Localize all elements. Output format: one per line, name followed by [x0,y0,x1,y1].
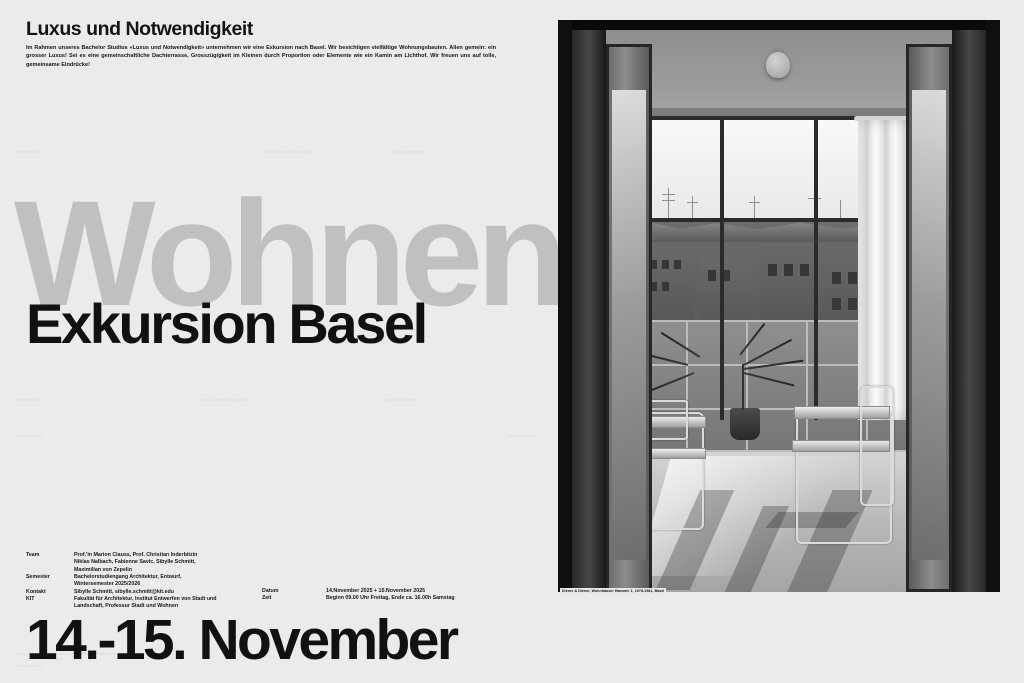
door-jamb-left [572,30,606,592]
watermark-left: Winter 2025/26 [16,434,41,439]
window-lite [662,282,669,291]
watermark-row-1: Winter 2025/26 Das Leichte und das Schwe… [0,150,552,160]
watermark-left: Winter 2025/26 [16,398,41,403]
watermark-right: Stadt und Wohnen [390,150,422,155]
credit-key: Semester [26,574,74,589]
contact-email[interactable]: Sibylle Schmitt, sibylle.schmitt@kit.edu [74,589,217,596]
watermark-right: Stadt und Wohnen [386,398,418,403]
window-lite [800,264,809,276]
credit-row-team: Team Prof.'in Marion Clauss, Prof. Chris… [26,552,217,574]
schedule-block: Datum 14.November 2025 + 15.November 202… [262,588,455,603]
credit-value: Prof.'in Marion Clauss, Prof. Christian … [74,552,217,574]
credit-line: Bachelorstudiengang Architektur, Entwurf… [74,574,217,581]
watermark-center: Das Leichte und das Schwere [262,150,313,155]
credit-line: Prof.'in Marion Clauss, Prof. Christian … [74,552,217,559]
credit-key: Kontakt [26,589,74,596]
antenna-bar [662,194,675,195]
schedule-value: 14.November 2025 + 15.November 2025 [326,588,455,595]
window-lite [674,260,681,269]
ceiling-lamp [766,52,790,78]
intro-paragraph: Im Rahmen unseres Bachelor Studios «Luxu… [26,44,496,69]
watermark-right: Stadt und Wohnen [506,434,538,439]
window-lite [662,260,669,269]
watermark-row-2: Winter 2025/26 Das Leichte und das Schwe… [0,398,552,408]
schedule-key: Datum [262,588,326,595]
credit-value: Sibylle Schmitt, sibylle.schmitt@kit.edu [74,589,217,596]
window-lite [848,298,857,310]
window-lite [784,264,793,276]
poster-photograph [558,20,1000,592]
page-title: Luxus und Notwendigkeit [26,18,253,41]
schedule-row-zeit: Zeit Beginn 09.00 Uhr Freitag, Ende ca. … [262,595,455,602]
credit-value: Bachelorstudiengang Architektur, Entwurf… [74,574,217,589]
watermark-row-3: Winter 2025/26 Stadt und Wohnen [0,434,552,444]
big-date: 14.-15. November [26,612,456,669]
credits-block: Team Prof.'in Marion Clauss, Prof. Chris… [26,552,217,611]
window-lite [832,272,841,284]
watermark-center: Das Leichte und das Schwere [200,398,251,403]
photo-frame-top [558,20,1000,30]
credit-line: Landschaft, Professur Stadt und Wohnen [74,603,217,610]
credit-line: Fakultät für Architektur, Institut Entwe… [74,596,217,603]
credit-line: Maximilian von Zepelin [74,567,217,574]
window-lite [848,272,857,284]
credit-key: Team [26,552,74,574]
plant-stem [742,364,744,410]
window-lite [768,264,777,276]
photo-caption: Diener & Diener, Wohnhäuser Hammer 1, 19… [560,588,666,594]
window-mullion [720,116,724,420]
photo-frame-left [558,20,572,592]
credit-row-kontakt: Kontakt Sibylle Schmitt, sibylle.schmitt… [26,589,217,596]
plant-pot [730,408,760,440]
glass-door-left-pane [612,90,646,560]
credit-key: KIT [26,596,74,611]
window-lite [832,298,841,310]
window-mullion [814,116,818,420]
credit-row-kit: KIT Fakultät für Architektur, Institut E… [26,596,217,611]
antenna-bar [662,200,675,201]
schedule-key: Zeit [262,595,326,602]
credit-value: Fakultät für Architektur, Institut Entwe… [74,596,217,611]
poster-canvas: Winter 2025/26 Das Leichte und das Schwe… [0,0,1024,683]
antenna-bar [687,202,698,203]
credit-row-semester: Semester Bachelorstudiengang Architektur… [26,574,217,589]
credit-line: Niklas Nalbach, Fabienne Savic, Sibylle … [74,559,217,566]
photo-frame-right [986,20,1000,592]
window-lite [708,270,716,281]
glass-door-right-pane [912,90,946,560]
antenna-bar [749,202,760,203]
watermark-left: Winter 2025/26 [16,150,41,155]
door-jamb-right [952,30,986,592]
credit-line: Wintersemester 2025/2026 [74,581,217,588]
schedule-row-datum: Datum 14.November 2025 + 15.November 202… [262,588,455,595]
schedule-value: Beginn 09.00 Uhr Freitag, Ende ca. 16.00… [326,595,455,602]
chair-right-side [860,386,894,506]
headline-exkursion-basel: Exkursion Basel [26,296,426,352]
